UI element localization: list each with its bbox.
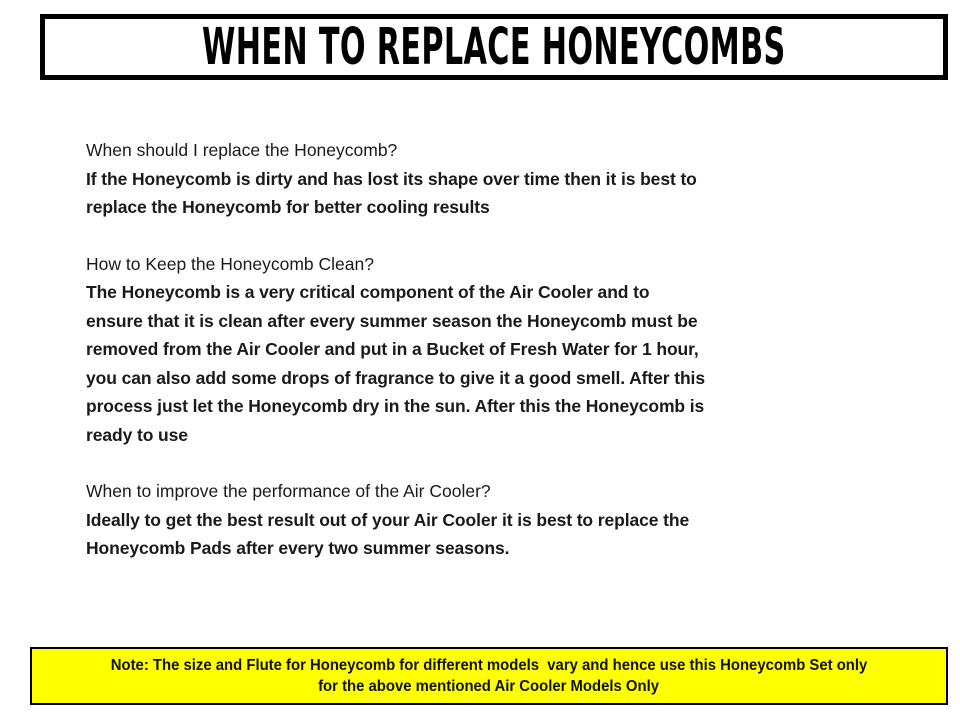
qa-block: How to Keep the Honeycomb Clean? The Hon… bbox=[86, 250, 876, 450]
note-line: for the above mentioned Air Cooler Model… bbox=[319, 676, 660, 697]
qa-block: When to improve the performance of the A… bbox=[86, 477, 876, 563]
page-title: WHEN TO REPLACE HONEYCOMBS bbox=[202, 22, 786, 73]
qa-question: When should I replace the Honeycomb? bbox=[86, 136, 876, 165]
qa-answer: Ideally to get the best result out of yo… bbox=[86, 506, 876, 563]
qa-block: When should I replace the Honeycomb? If … bbox=[86, 136, 876, 222]
note-box: Note: The size and Flute for Honeycomb f… bbox=[30, 647, 948, 705]
qa-answer: The Honeycomb is a very critical compone… bbox=[86, 278, 876, 449]
body-copy: When should I replace the Honeycomb? If … bbox=[86, 136, 876, 563]
qa-question: How to Keep the Honeycomb Clean? bbox=[86, 250, 876, 279]
note-line: Note: The size and Flute for Honeycomb f… bbox=[111, 655, 868, 676]
title-banner: WHEN TO REPLACE HONEYCOMBS bbox=[40, 14, 948, 80]
qa-question: When to improve the performance of the A… bbox=[86, 477, 876, 506]
qa-answer: If the Honeycomb is dirty and has lost i… bbox=[86, 165, 876, 222]
